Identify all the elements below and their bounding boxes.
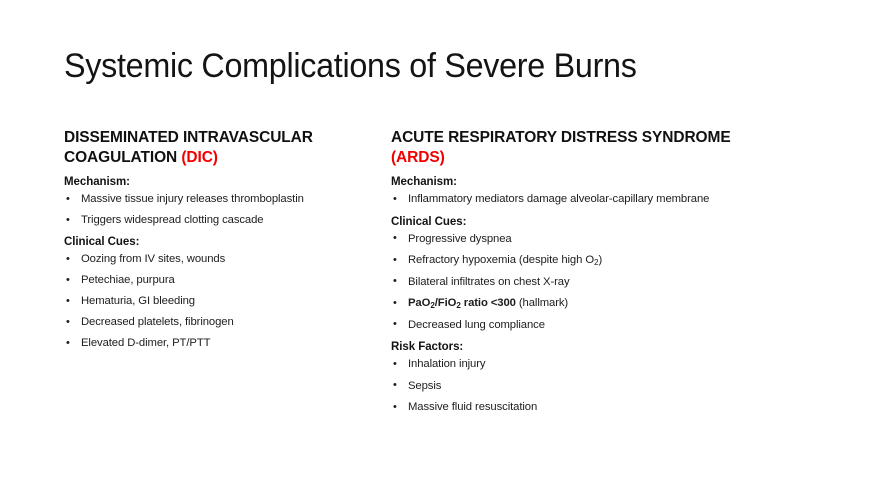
list-item: Massive fluid resuscitation	[391, 401, 772, 415]
pf-ratio-hallmark: (hallmark)	[516, 297, 568, 309]
hypoxemia-text: Refractory hypoxemia (despite high O	[408, 254, 594, 266]
list-item: Oozing from IV sites, wounds	[64, 253, 380, 267]
ards-risk-factors-label: Risk Factors:	[391, 340, 772, 354]
dic-clinical-cues-label: Clinical Cues:	[64, 235, 380, 249]
dic-mechanism-list: Massive tissue injury releases thrombopl…	[64, 193, 380, 228]
pao2-subscript: 2	[430, 301, 434, 310]
ards-clinical-cues-label: Clinical Cues:	[391, 215, 772, 229]
list-item: Petechiae, purpura	[64, 274, 380, 288]
page-title: Systemic Complications of Severe Burns	[64, 47, 637, 86]
list-item: Inflammatory mediators damage alveolar-c…	[391, 193, 772, 207]
ards-heading-abbreviation: (ARDS)	[391, 149, 445, 166]
pf-ratio-value: ratio <300	[461, 297, 516, 309]
list-item: Progressive dyspnea	[391, 233, 772, 247]
dic-heading: DISSEMINATED INTRAVASCULAR COAGULATION (…	[64, 128, 380, 168]
list-item: Elevated D-dimer, PT/PTT	[64, 337, 380, 351]
ards-mechanism-list: Inflammatory mediators damage alveolar-c…	[391, 193, 772, 207]
column-ards: ACUTE RESPIRATORY DISTRESS SYNDROME (ARD…	[388, 128, 812, 423]
dic-heading-abbreviation: (DIC)	[181, 149, 218, 166]
pf-ratio-pao: PaO	[408, 297, 430, 309]
list-item: Triggers widespread clotting cascade	[64, 214, 380, 228]
list-item: Hematuria, GI bleeding	[64, 295, 380, 309]
ards-heading: ACUTE RESPIRATORY DISTRESS SYNDROME (ARD…	[391, 128, 772, 168]
pf-ratio-fio: /FiO	[435, 297, 457, 309]
fio2-subscript: 2	[456, 301, 460, 310]
ards-mechanism-label: Mechanism:	[391, 175, 772, 189]
list-item: Sepsis	[391, 380, 772, 394]
ards-clinical-cues-list: Progressive dyspnea Refractory hypoxemia…	[391, 233, 772, 333]
dic-mechanism-label: Mechanism:	[64, 175, 380, 189]
list-item-pf-ratio: PaO2/FiO2 ratio <300 (hallmark)	[391, 297, 772, 311]
content-columns: DISSEMINATED INTRAVASCULAR COAGULATION (…	[0, 128, 880, 423]
hypoxemia-tail: )	[598, 254, 602, 266]
dic-clinical-cues-list: Oozing from IV sites, wounds Petechiae, …	[64, 253, 380, 351]
list-item: Decreased platelets, fibrinogen	[64, 316, 380, 330]
list-item: Inhalation injury	[391, 358, 772, 372]
list-item-hypoxemia: Refractory hypoxemia (despite high O2)	[391, 254, 772, 268]
oxygen-subscript: 2	[594, 258, 598, 267]
ards-heading-main: ACUTE RESPIRATORY DISTRESS SYNDROME	[391, 129, 731, 146]
ards-risk-factors-list: Inhalation injury Sepsis Massive fluid r…	[391, 358, 772, 415]
list-item: Decreased lung compliance	[391, 319, 772, 333]
slide-canvas: Systemic Complications of Severe Burns D…	[0, 0, 880, 495]
column-dic: DISSEMINATED INTRAVASCULAR COAGULATION (…	[0, 128, 388, 423]
list-item: Bilateral infiltrates on chest X-ray	[391, 276, 772, 290]
list-item: Massive tissue injury releases thrombopl…	[64, 193, 380, 207]
